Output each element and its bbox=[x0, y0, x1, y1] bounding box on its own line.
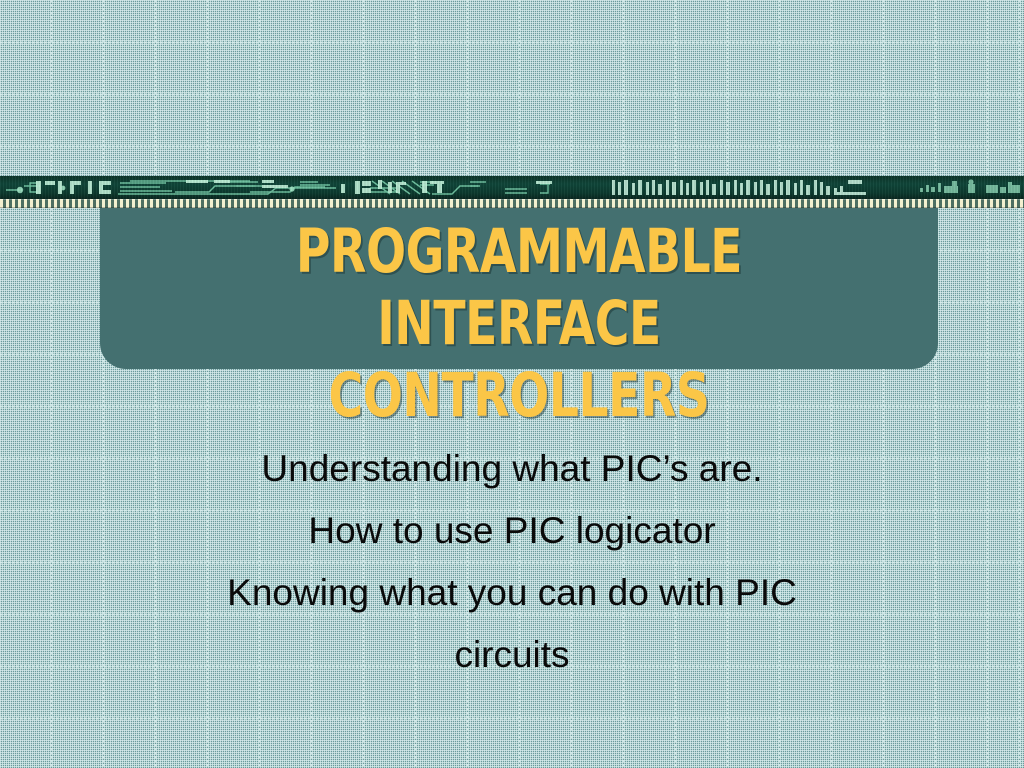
slide-canvas: PROGRAMMABLE INTERFACE CONTROLLERS Under… bbox=[0, 0, 1024, 768]
circuit-board-banner bbox=[0, 176, 1024, 208]
pcb-board-substrate bbox=[0, 176, 1024, 199]
pcb-traces bbox=[0, 176, 1024, 199]
pcb-edge-connector-fingers bbox=[0, 199, 1024, 208]
slide-title: PROGRAMMABLE INTERFACE CONTROLLERS bbox=[163, 216, 875, 432]
body-line-2: How to use PIC logicator bbox=[112, 500, 912, 562]
body-line-3: Knowing what you can do with PIC bbox=[112, 562, 912, 624]
slide-body: Understanding what PIC’s are. How to use… bbox=[112, 438, 912, 686]
body-line-1: Understanding what PIC’s are. bbox=[112, 438, 912, 500]
body-line-4: circuits bbox=[112, 624, 912, 686]
